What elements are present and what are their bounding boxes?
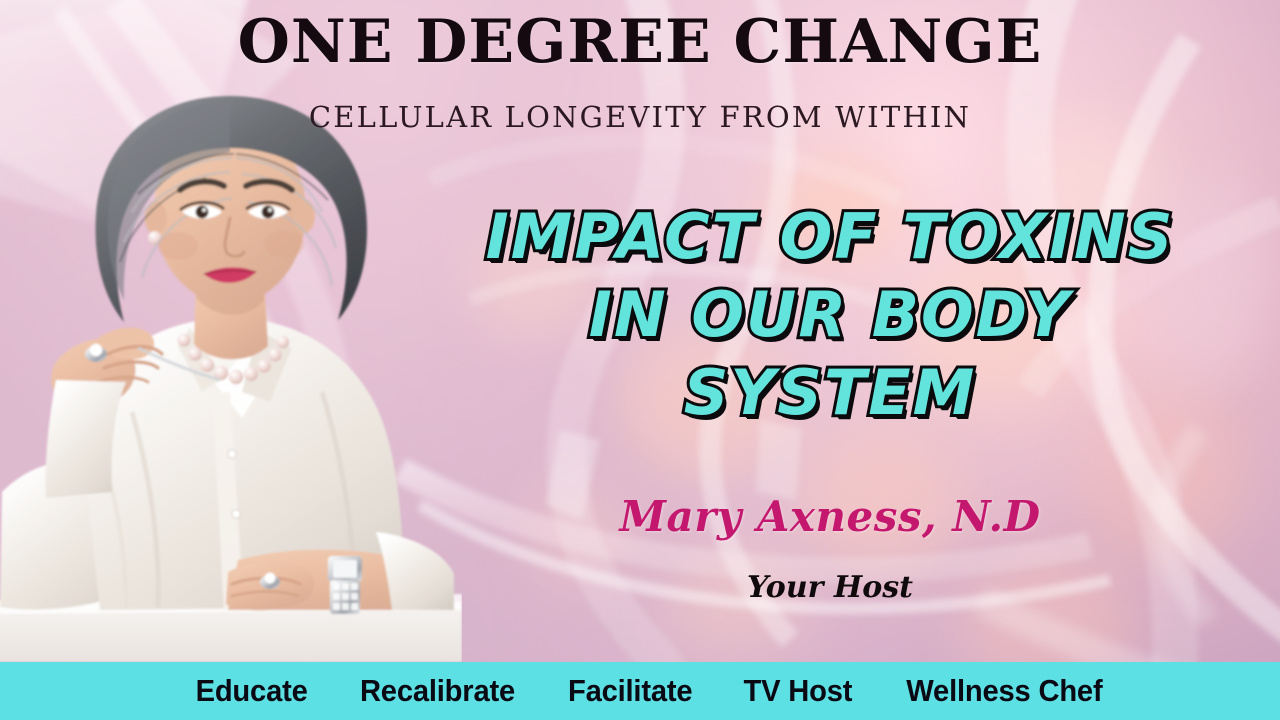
episode-headline: IMPACT OF TOXINS IN OUR BODY SYSTEM (430, 198, 1230, 432)
brand-tagline: CELLULAR LONGEVITY FROM WITHIN (0, 100, 1280, 134)
bar-item-facilitate: Facilitate (568, 673, 692, 709)
role-keywords-bar: Educate Recalibrate Facilitate TV Host W… (0, 662, 1280, 720)
speaker-name: Mary Axness, N.D (430, 492, 1230, 541)
slide-canvas: ONE DEGREE CHANGE CELLULAR LONGEVITY FRO… (0, 0, 1280, 720)
speaker-role: Your Host (430, 570, 1230, 605)
headline-line-3: SYSTEM (430, 354, 1230, 432)
bar-item-educate: Educate (195, 673, 307, 709)
bar-item-wellness-chef: Wellness Chef (906, 673, 1102, 709)
bar-item-recalibrate: Recalibrate (360, 673, 515, 709)
bar-item-tv-host: TV Host (744, 673, 853, 709)
headline-line-1: IMPACT OF TOXINS (430, 198, 1230, 276)
headline-line-2: IN OUR BODY (430, 276, 1230, 354)
brand-title: ONE DEGREE CHANGE (0, 12, 1280, 73)
